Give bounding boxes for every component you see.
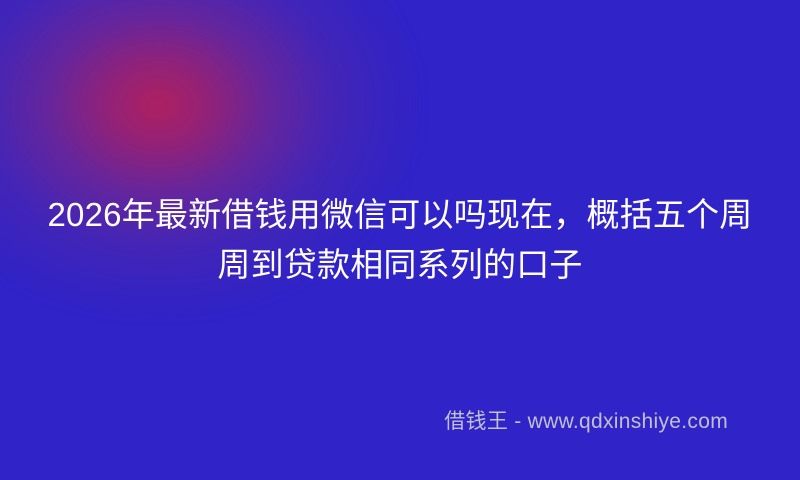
site-watermark: 借钱王 - www.qdxinshiye.com bbox=[444, 409, 728, 435]
article-cover-banner: 2026年最新借钱用微信可以吗现在，概括五个周 周到贷款相同系列的口子 借钱王 … bbox=[0, 0, 800, 480]
banner-content: 2026年最新借钱用微信可以吗现在，概括五个周 周到贷款相同系列的口子 借钱王 … bbox=[0, 0, 800, 480]
page-title: 2026年最新借钱用微信可以吗现在，概括五个周 周到贷款相同系列的口子 bbox=[0, 190, 800, 290]
